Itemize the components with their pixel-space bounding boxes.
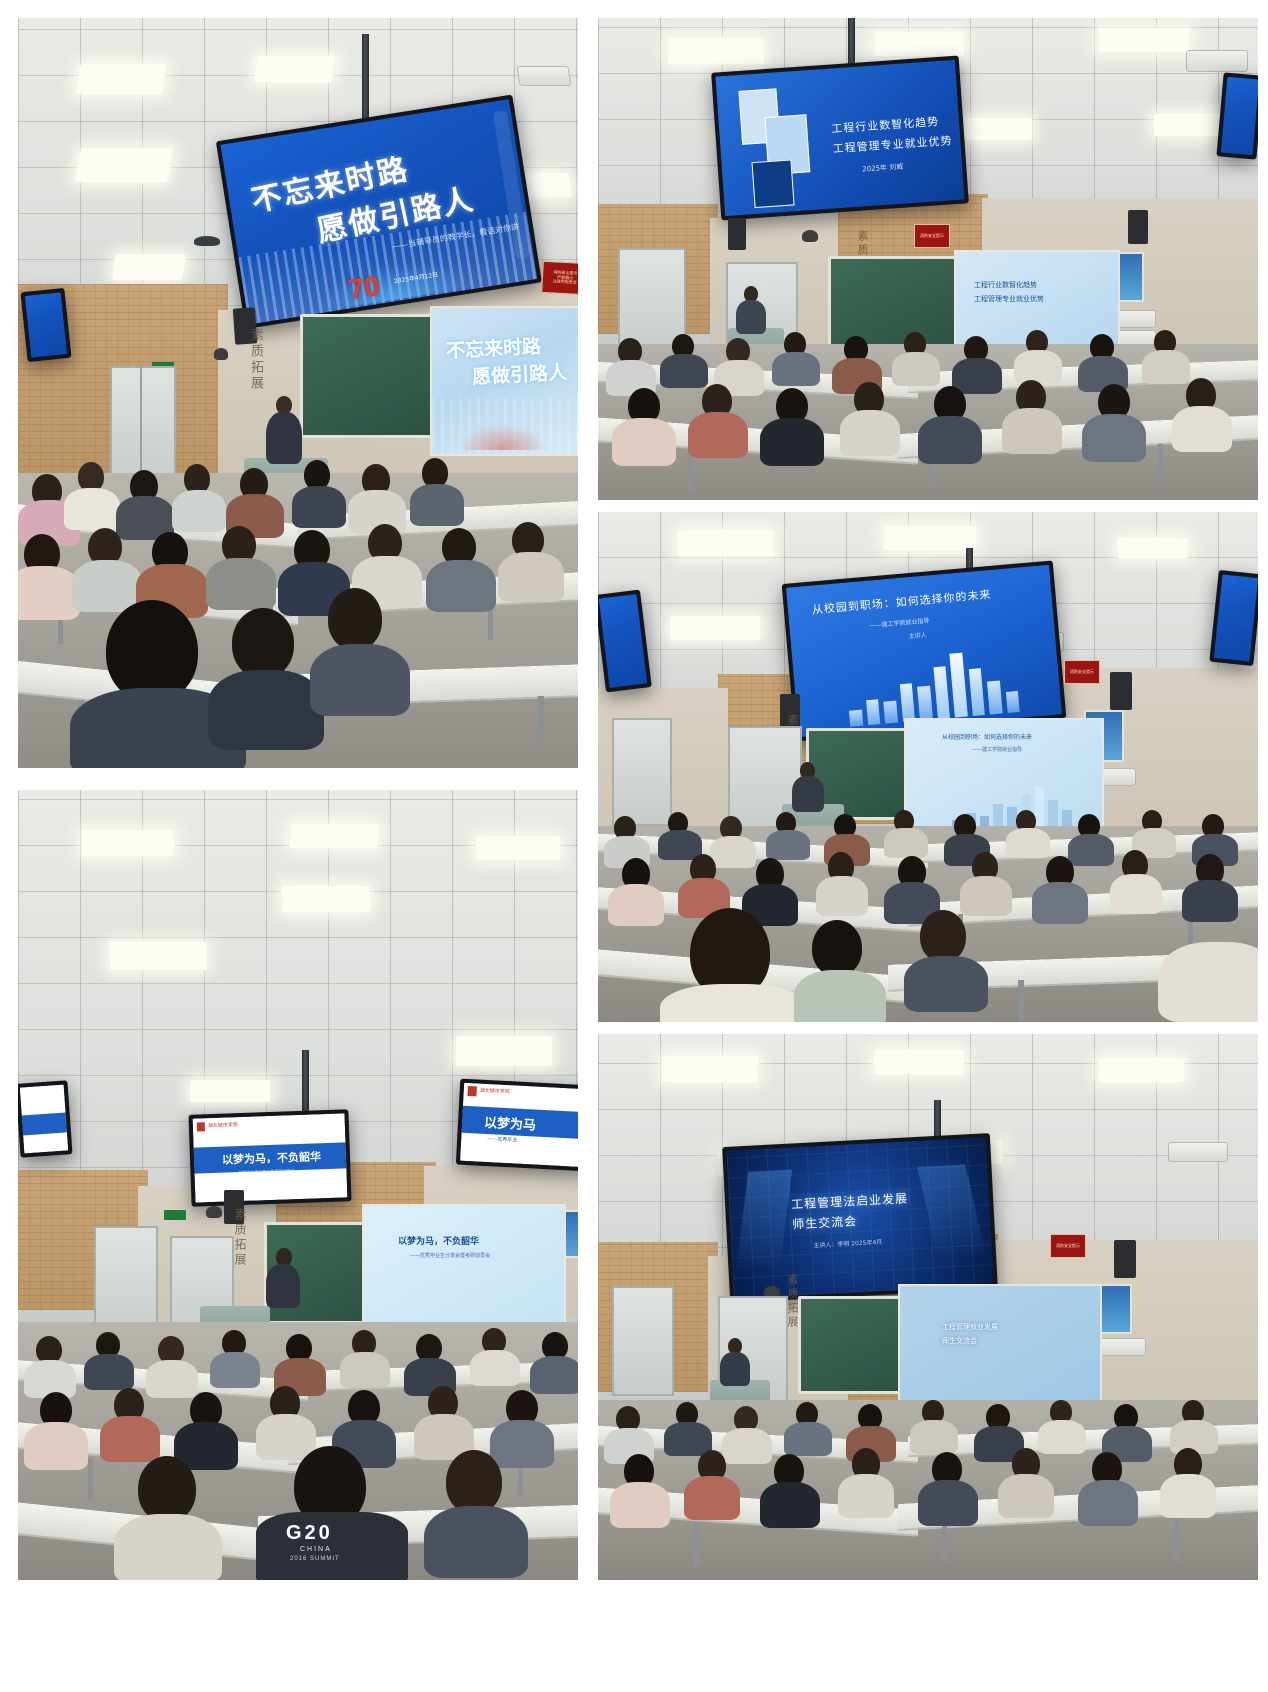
projection-title: 以梦为马，不负韶华 — [398, 1234, 479, 1247]
photo-collage: 不忘来时路 愿做引路人 ——当辅导员的教学长，看话对你讲 70 2025年4月1… — [0, 0, 1268, 1692]
audience-area — [598, 1390, 1258, 1580]
audience-area — [598, 802, 1258, 1022]
foreground-student-head — [106, 600, 198, 702]
hoodie-text-line1: G20 — [286, 1522, 333, 1545]
photo-bottom-left: 湖北城市学院 以梦为马，不负韶华 ——优秀毕业生分享会暨考研动员会 湖北城市学院… — [18, 790, 578, 1580]
audience-area — [598, 320, 1258, 500]
wall-banner-text: 素质拓展 — [232, 1208, 249, 1268]
main-led-screen: 湖北城市学院 以梦为马，不负韶华 ——优秀毕业生分享会暨考研动员会 — [188, 1109, 351, 1207]
audience-area: G20 CHINA 2016 SUMMIT — [18, 1310, 578, 1580]
projection-title-line1: 工程行业数智化趋势 — [974, 280, 1037, 290]
side-tv-subtitle: ——优秀毕业 — [487, 1136, 517, 1145]
safety-sign-text: 消防安全提示 严禁烟火 注意用电安全 — [553, 271, 578, 285]
exit-sign-icon — [164, 1210, 186, 1220]
security-camera-icon — [214, 348, 228, 360]
safety-sign-text: 消防安全提示 — [1056, 1244, 1080, 1248]
projection-subtitle: ——建工学院就业指导 — [972, 746, 1022, 753]
side-tv-title: 以梦为马 — [484, 1112, 537, 1134]
security-camera-icon — [206, 1206, 222, 1218]
side-led-screen-left — [18, 1080, 73, 1157]
photo-top-left: 不忘来时路 愿做引路人 ——当辅导员的教学长，看话对你讲 70 2025年4月1… — [18, 18, 578, 768]
presenter-body — [720, 1352, 750, 1386]
safety-sign: 消防安全提示 — [914, 224, 950, 248]
main-led-screen: 工程管理法启业发展 师生交流会 主讲人：李明 2025年4月 — [722, 1133, 998, 1303]
tv-slide-presenter: 主讲人 — [908, 630, 927, 641]
safety-sign: 消防安全提示 严禁烟火 注意用电安全 — [541, 261, 578, 295]
main-led-screen: 从校园到职场：如何选择你的未来 ——建工学院就业指导 主讲人 — [782, 560, 1067, 741]
wall-speaker-right — [1114, 1240, 1136, 1278]
ceiling-vent — [516, 66, 571, 86]
tv-slide-bar-chart — [844, 638, 1020, 727]
photo-bottom-right: 工程管理法启业发展 师生交流会 主讲人：李明 2025年4月 消防安全提示 素质… — [598, 1034, 1258, 1580]
safety-sign: 消防安全提示 — [1064, 660, 1100, 684]
projection-title: 从校园到职场：如何选择你的未来 — [942, 732, 1032, 741]
door-left — [612, 1286, 674, 1396]
hoodie-text-line2: CHINA — [300, 1546, 332, 1553]
side-led-screen — [1216, 72, 1258, 159]
g20-hoodie: G20 CHINA 2016 SUMMIT — [256, 1512, 408, 1580]
wall-banner-text: 素质拓展 — [246, 328, 265, 392]
projection-subtitle: ——优秀毕业生分享会暨考研动员会 — [410, 1252, 490, 1259]
projection-screen: 不忘来时路 愿做引路人 — [430, 306, 578, 456]
safety-sign-text: 消防安全提示 — [1070, 670, 1094, 674]
photo-mid-right: 从校园到职场：如何选择你的未来 ——建工学院就业指导 主讲人 — [598, 512, 1258, 1022]
tv-slide-logo-text: 湖北城市学院 — [208, 1121, 238, 1129]
ceiling-sensor-icon — [194, 236, 220, 246]
projection-title-line1: 工程管理就业发展 — [942, 1322, 998, 1332]
tv-slide-title-line2: 师生交流会 — [792, 1212, 858, 1232]
projection-title-line2: 工程管理专业就业优势 — [974, 294, 1044, 304]
safety-sign-text: 消防安全提示 — [920, 234, 944, 238]
presenter-body — [266, 1264, 300, 1308]
side-tv-logo-text: 湖北城市学院 — [480, 1087, 510, 1096]
wall-speaker-right — [1128, 210, 1148, 244]
audience-area — [18, 438, 578, 768]
hoodie-text-line3: 2016 SUMMIT — [290, 1556, 340, 1562]
blackboard — [300, 314, 438, 438]
projection-title-line2: 愿做引路人 — [471, 358, 567, 390]
wall-speaker-right — [1110, 672, 1132, 710]
photo-top-right: 工程行业数智化趋势 工程管理专业就业优势 2025年 刘威 素质拓展 消防安全提… — [598, 18, 1258, 500]
main-led-screen: 工程行业数智化趋势 工程管理专业就业优势 2025年 刘威 — [711, 56, 969, 221]
side-led-screen — [20, 288, 71, 362]
wall-speaker-left — [728, 218, 746, 250]
security-camera-icon — [802, 230, 818, 242]
side-led-screen-right: 湖北城市学院 以梦为马 ——优秀毕业 — [456, 1079, 578, 1172]
side-led-screen-right — [1209, 570, 1258, 666]
blackboard — [798, 1296, 914, 1394]
projection-title-line2: 师生交流会 — [942, 1336, 977, 1346]
tv-slide-badge: 70 — [346, 270, 382, 306]
safety-sign: 消防安全提示 — [1050, 1234, 1086, 1258]
